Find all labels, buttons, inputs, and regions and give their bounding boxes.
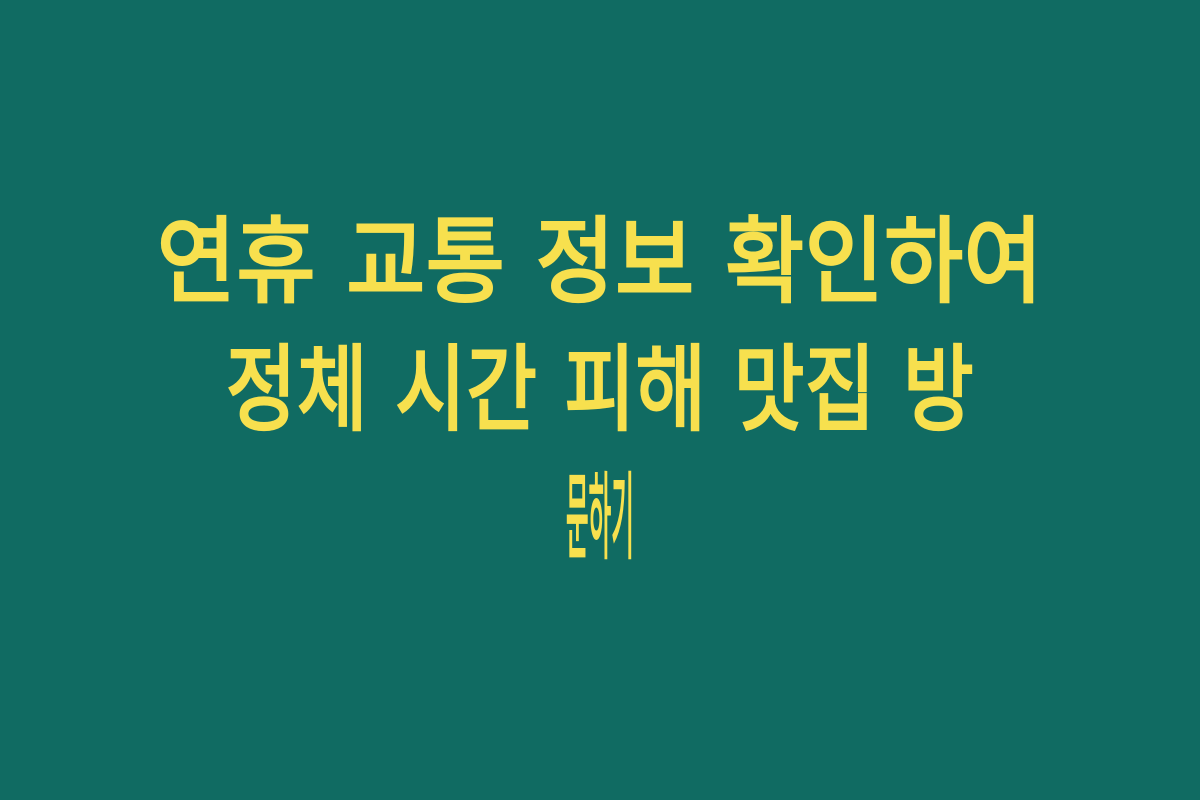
headline-line-2: 정체 시간 피해 맛집 방 (143, 327, 1058, 455)
banner-canvas: 연휴 교통 정보 확인하여 정체 시간 피해 맛집 방 문하기 (0, 0, 1200, 800)
headline-line-3: 문하기 (454, 455, 746, 583)
headline-text-block: 연휴 교통 정보 확인하여 정체 시간 피해 맛집 방 문하기 (40, 199, 1160, 600)
headline-line-1: 연휴 교통 정보 확인하여 (88, 199, 1112, 327)
